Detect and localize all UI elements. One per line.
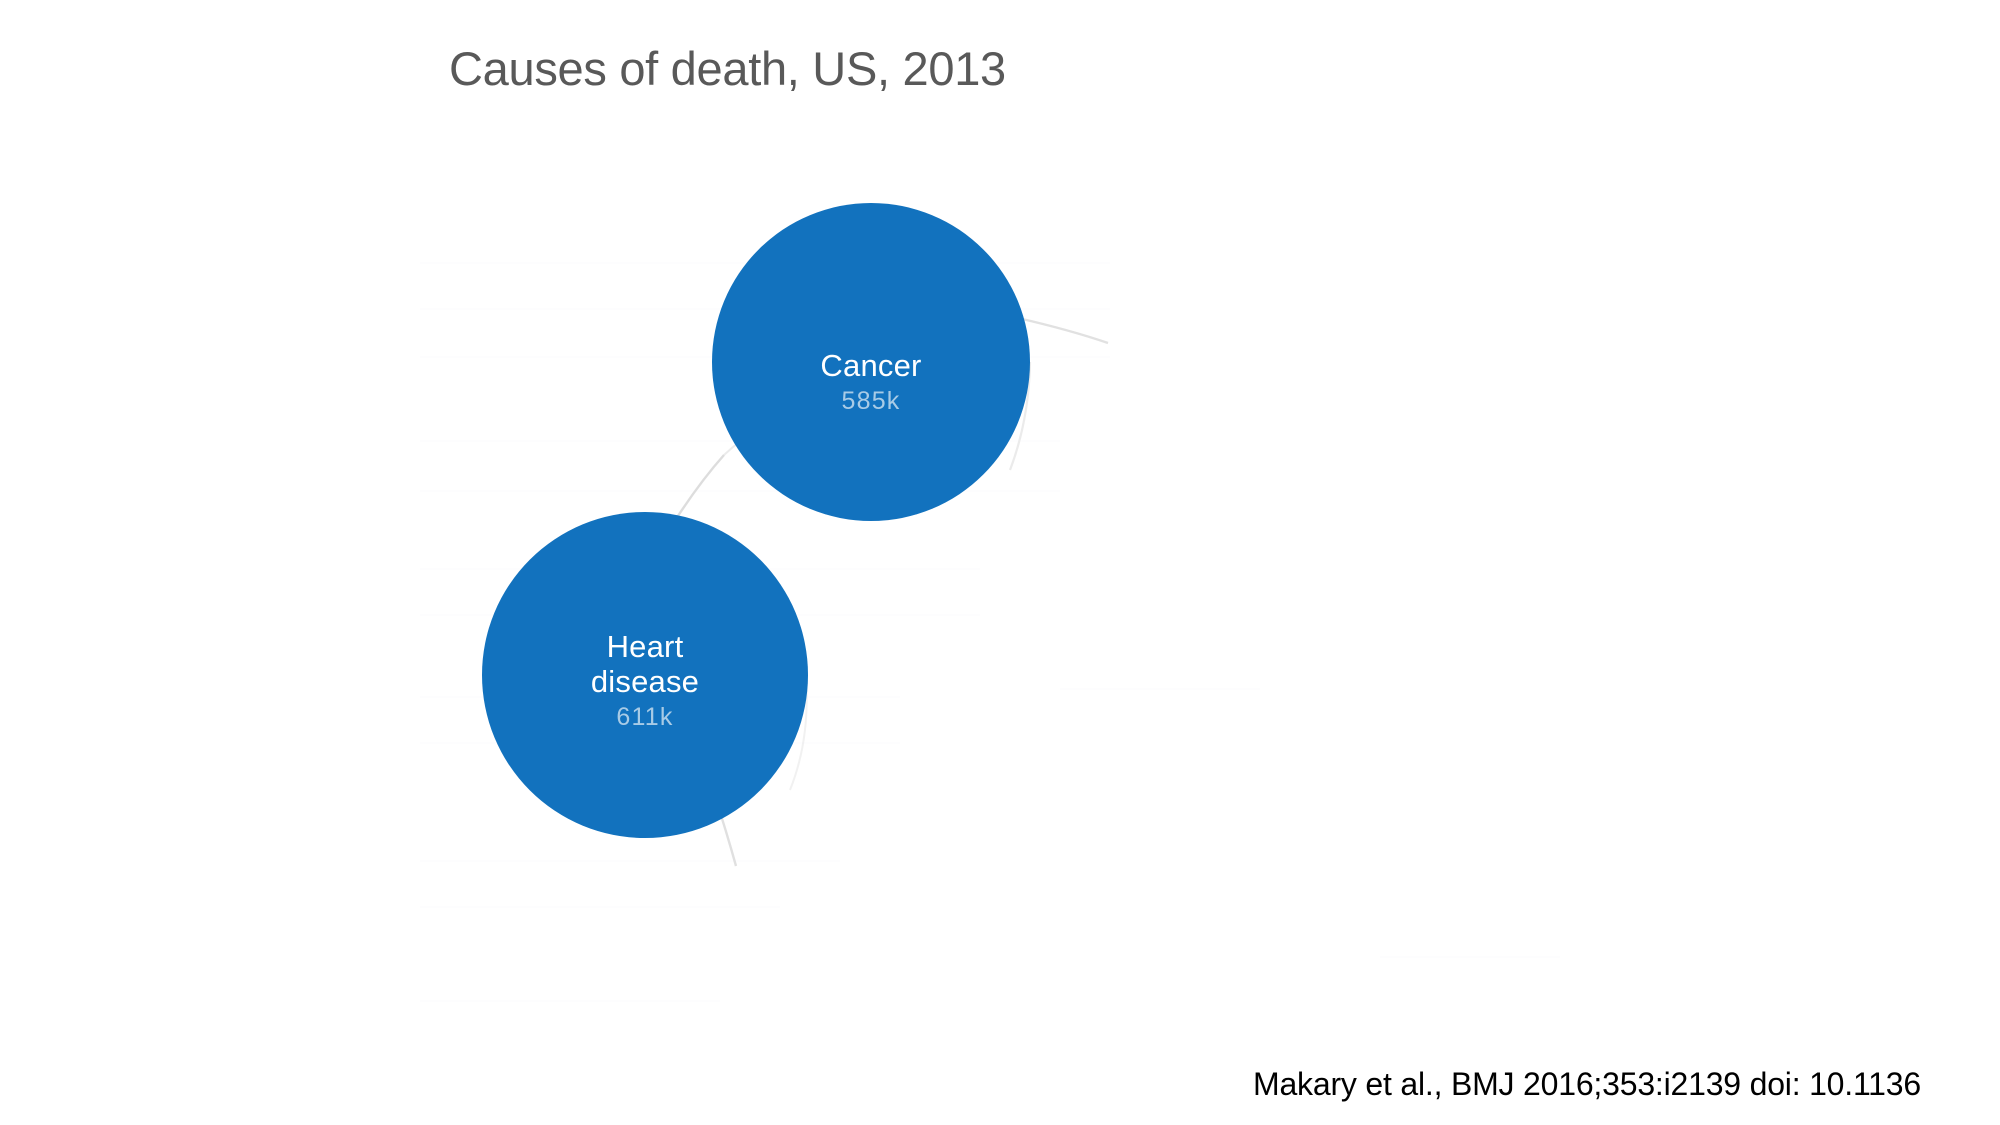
bubble-cancer-text: Cancer 585k [820,348,921,415]
bubble-cancer[interactable]: Cancer 585k [712,203,1030,521]
bubble-chart-plot-area: Cancer 585k Heart disease 611k [0,0,2000,1125]
bubble-heart-disease-value: 611k [616,703,673,731]
bubble-cancer-label: Cancer [820,348,921,383]
source-citation: Makary et al., BMJ 2016;353:i2139 doi: 1… [1253,1064,1921,1104]
slide-canvas: Cancer 585k Heart disease 611k Causes of… [0,0,2000,1125]
bubble-cancer-value: 585k [841,387,900,415]
bubble-heart-disease[interactable]: Heart disease 611k [482,512,808,838]
bubble-heart-disease-text: Heart disease 611k [591,629,699,731]
chart-title: Causes of death, US, 2013 [449,40,1006,98]
bubble-heart-disease-label: Heart disease [591,629,699,699]
